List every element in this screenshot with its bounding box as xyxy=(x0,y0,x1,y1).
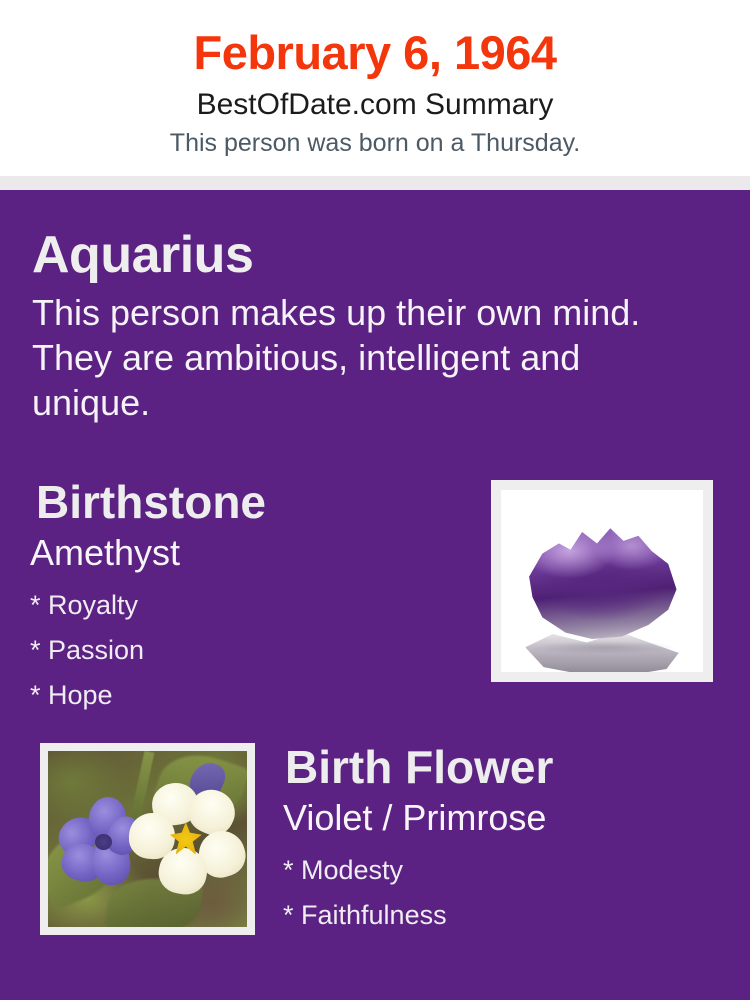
page-title: February 6, 1964 xyxy=(0,25,750,81)
amethyst-crystal-icon xyxy=(501,490,703,672)
list-item: * Modesty xyxy=(283,848,447,893)
geode-facets xyxy=(519,515,685,642)
violet-primrose-photo xyxy=(48,751,247,927)
summary-card: February 6, 1964 BestOfDate.com Summary … xyxy=(0,0,750,1000)
birthstone-heading: Birthstone xyxy=(36,475,266,529)
header-divider xyxy=(0,176,750,190)
amethyst-photo xyxy=(501,490,703,672)
birth-day-note: This person was born on a Thursday. xyxy=(0,128,750,158)
birth-flower-heading: Birth Flower xyxy=(285,740,553,794)
birthstone-trait-list: * Royalty * Passion * Hope xyxy=(30,583,144,718)
site-subtitle: BestOfDate.com Summary xyxy=(0,87,750,123)
zodiac-sign-name: Aquarius xyxy=(32,225,253,285)
birth-flower-trait-list: * Modesty * Faithfulness xyxy=(283,848,447,938)
zodiac-sign-description: This person makes up their own mind. The… xyxy=(32,290,682,425)
details-panel: Aquarius This person makes up their own … xyxy=(0,190,750,1000)
violet-center xyxy=(95,834,112,850)
birthstone-name: Amethyst xyxy=(30,531,180,575)
birth-flower-image-frame xyxy=(40,743,255,935)
primrose-flower-icon xyxy=(132,783,247,899)
geode-shadow xyxy=(533,641,674,654)
list-item: * Passion xyxy=(30,628,144,673)
birthstone-image-frame xyxy=(491,480,713,682)
header: February 6, 1964 BestOfDate.com Summary … xyxy=(0,0,750,176)
list-item: * Hope xyxy=(30,673,144,718)
flower-scene-icon xyxy=(48,751,247,927)
list-item: * Faithfulness xyxy=(283,893,447,938)
geode-body xyxy=(519,515,685,642)
list-item: * Royalty xyxy=(30,583,144,628)
birth-flower-name: Violet / Primrose xyxy=(283,796,546,840)
